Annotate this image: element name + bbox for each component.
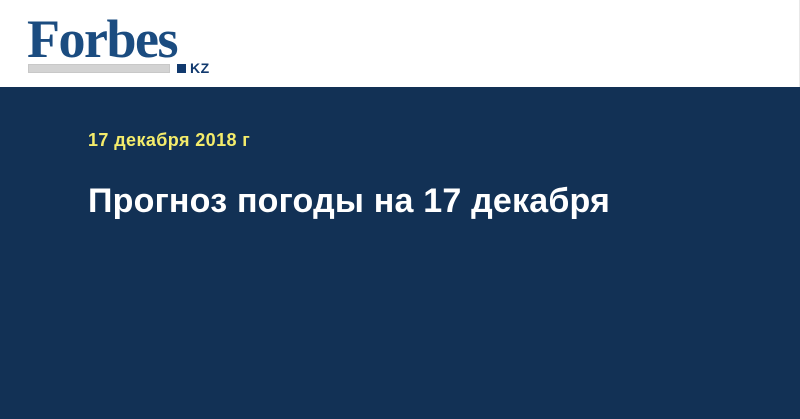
page-title: Прогноз погоды на 17 декабря bbox=[88, 181, 738, 221]
square-icon bbox=[177, 64, 186, 73]
gray-rule-icon bbox=[28, 64, 170, 73]
article-date: 17 декабря 2018 г bbox=[88, 130, 250, 150]
article-body: 17 декабря 2018 г Прогноз погоды на 17 д… bbox=[0, 87, 800, 419]
logo-suffix-kz: KZ bbox=[190, 61, 210, 75]
article-hero-page: Forbes KZ 17 декабря 2018 г Прогноз пого… bbox=[0, 0, 800, 419]
site-header: Forbes KZ bbox=[0, 0, 800, 87]
forbes-kz-logo[interactable]: Forbes KZ bbox=[27, 12, 227, 78]
logo-wordmark: Forbes bbox=[27, 12, 177, 66]
